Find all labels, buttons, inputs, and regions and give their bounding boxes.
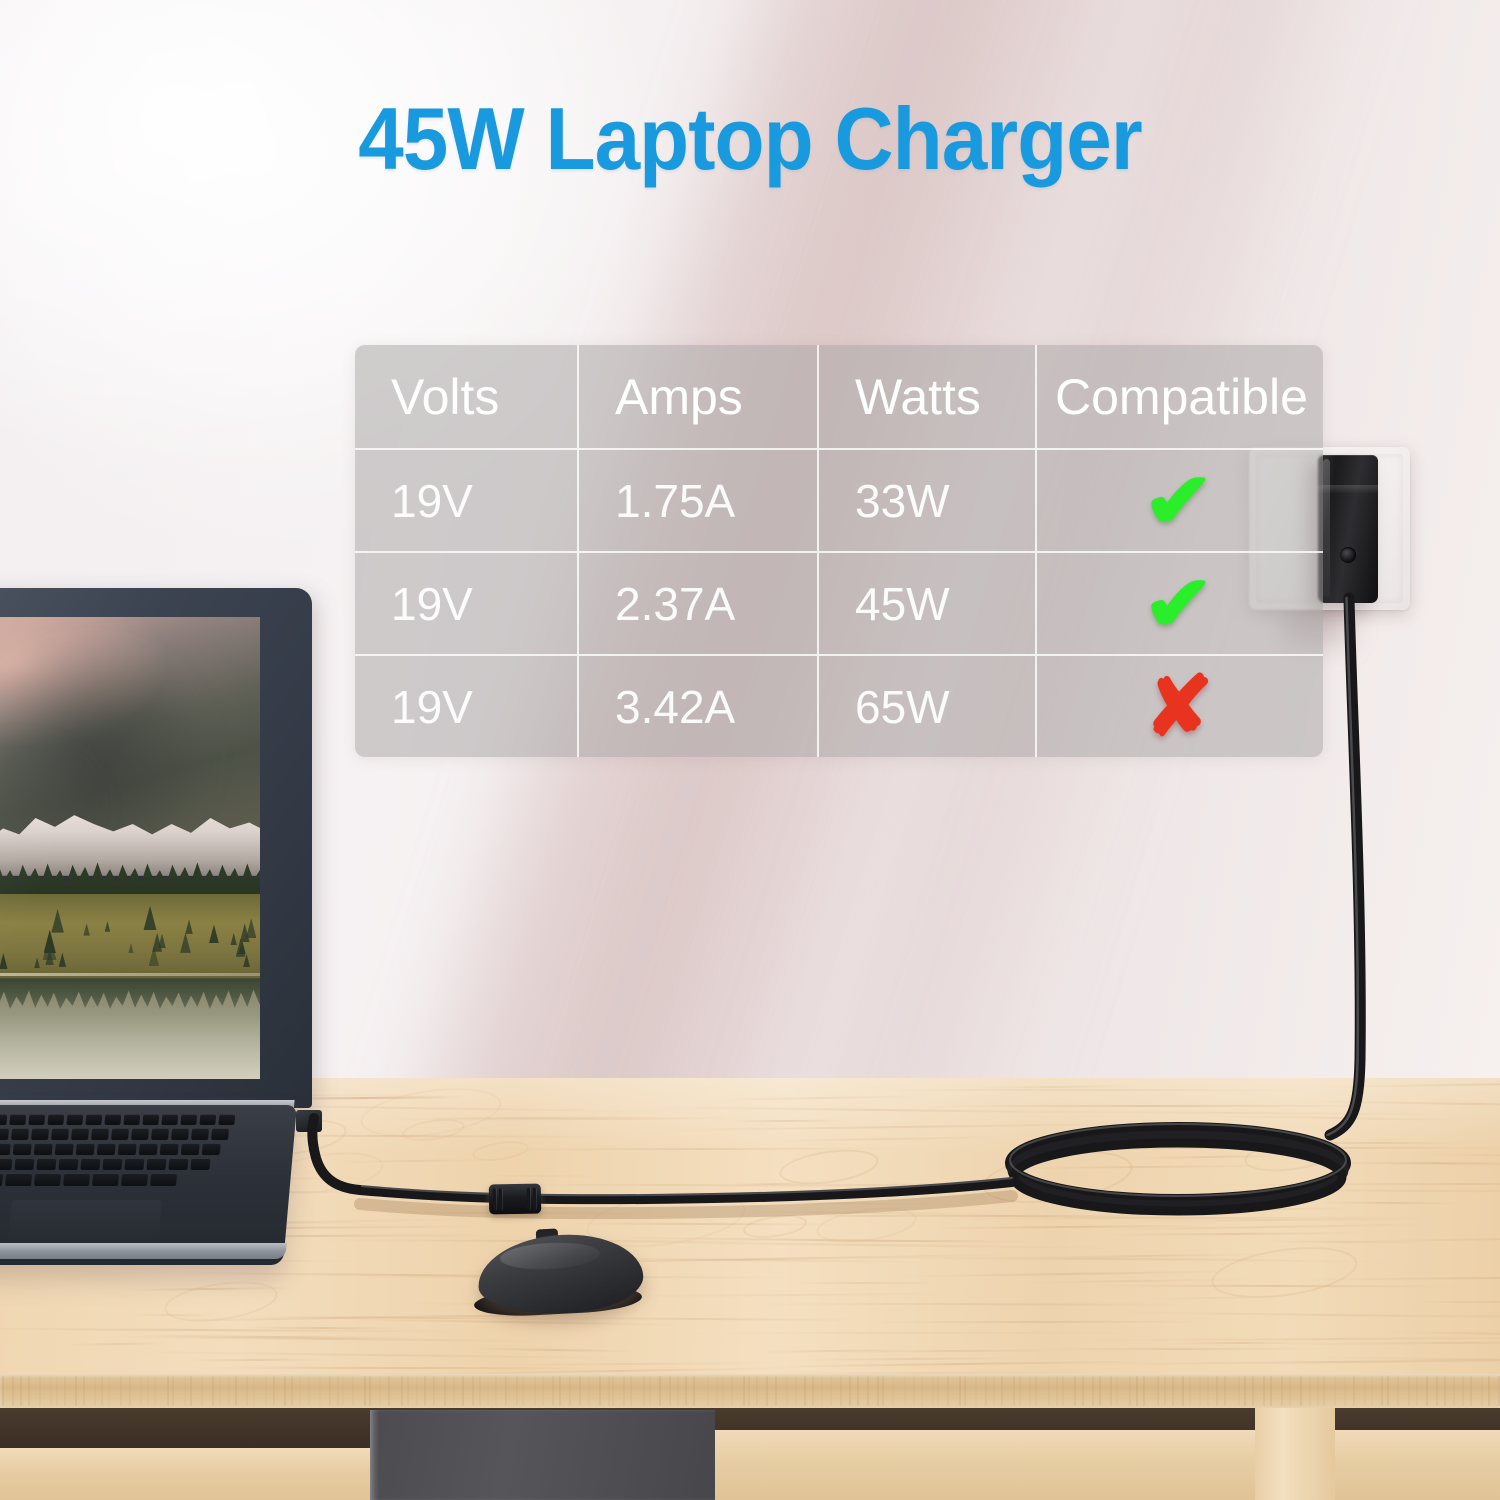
cell-watts: 45W: [817, 553, 1035, 654]
charger-brick: [1318, 455, 1378, 603]
charger-cable-port: [1340, 547, 1356, 563]
table-row: 19V 3.42A 65W ✘: [355, 654, 1323, 757]
cell-amps: 3.42A: [577, 656, 817, 757]
cable-ferrite-bead: [489, 1184, 542, 1215]
cell-compatible: ✔: [1035, 450, 1321, 551]
laptop-front-foot: [0, 1243, 287, 1259]
desk-edge-grain: [0, 1374, 1500, 1408]
laptop-screen: [0, 617, 260, 1079]
header-compatible: Compatible: [1035, 345, 1321, 448]
compatibility-table: Volts Amps Watts Compatible 19V 1.75A 33…: [355, 345, 1323, 757]
table-row: 19V 2.37A 45W ✔: [355, 551, 1323, 654]
header-volts: Volts: [355, 345, 577, 448]
header-watts: Watts: [817, 345, 1035, 448]
under-desk-panel-edge: [370, 1410, 379, 1500]
header-amps: Amps: [577, 345, 817, 448]
laptop-power-connector: [296, 1110, 322, 1132]
charger-highlight: [1323, 459, 1330, 597]
cell-watts: 65W: [817, 656, 1035, 757]
cell-compatible: ✘: [1035, 656, 1321, 757]
cell-amps: 1.75A: [577, 450, 817, 551]
cell-compatible: ✔: [1035, 553, 1321, 654]
desk-front-edge: [0, 1374, 1500, 1408]
checkmark-icon: ✔: [1140, 565, 1218, 642]
lower-shelf-left: [0, 1448, 372, 1500]
cell-amps: 2.37A: [577, 553, 817, 654]
laptop-trackpad: [8, 1200, 162, 1242]
cell-watts: 33W: [817, 450, 1035, 551]
product-scene: 45W Laptop Charger: [0, 0, 1500, 1500]
cell-volts: 19V: [355, 553, 577, 654]
charger-seam: [1318, 485, 1378, 493]
lower-shelf-right: [713, 1430, 1500, 1500]
laptop-keyboard: [0, 1112, 249, 1192]
wallpaper-shoreline: [0, 973, 260, 976]
table-row: 19V 1.75A 33W ✔: [355, 448, 1323, 551]
cross-icon: ✘: [1144, 665, 1213, 748]
checkmark-icon: ✔: [1140, 462, 1218, 539]
wallpaper-scattered-trees: [0, 894, 260, 977]
table-header-row: Volts Amps Watts Compatible: [355, 345, 1323, 448]
wallpaper-lake-shine: [0, 1014, 260, 1079]
desk-leg-right: [1255, 1408, 1335, 1500]
cell-volts: 19V: [355, 656, 577, 757]
under-desk-panel: [370, 1410, 715, 1500]
page-title: 45W Laptop Charger: [53, 88, 1448, 190]
cell-volts: 19V: [355, 450, 577, 551]
